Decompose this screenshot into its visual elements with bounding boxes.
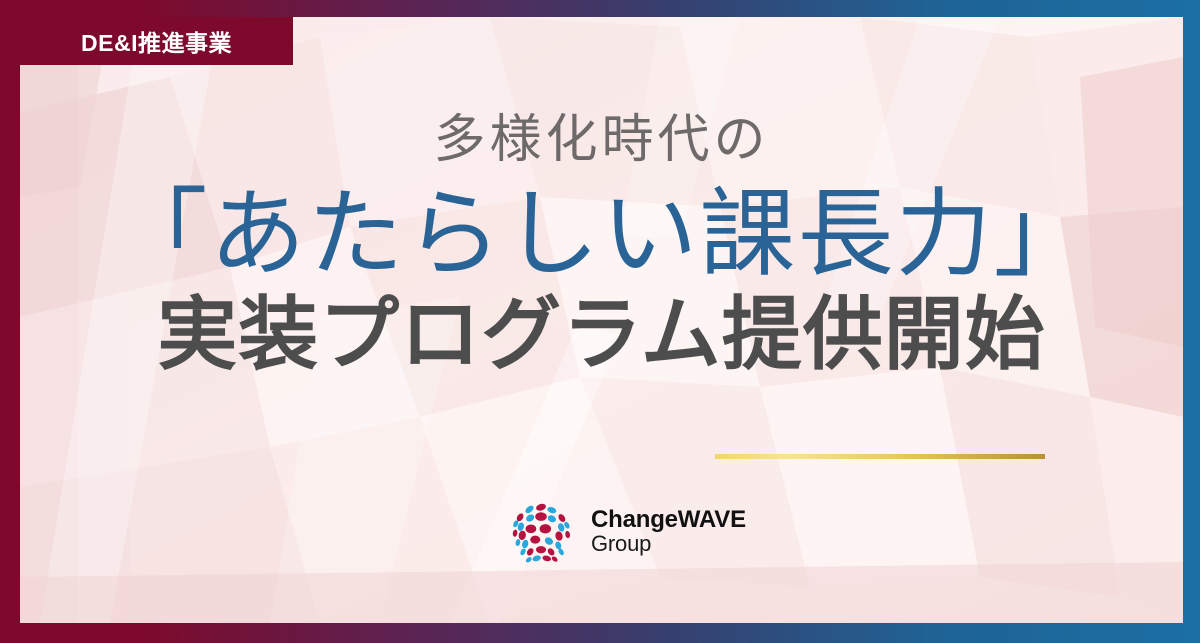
frame-right-border (1183, 0, 1200, 643)
headline-eyebrow: 多様化時代の (433, 115, 769, 167)
banner-canvas: DE&I推進事業 多様化時代の 「あたらしい課長力」 実装プログラム提供開始 (20, 17, 1183, 623)
headline-main: 「あたらしい課長力」 (112, 185, 1092, 285)
promotional-banner: DE&I推進事業 多様化時代の 「あたらしい課長力」 実装プログラム提供開始 (0, 0, 1200, 643)
category-badge-label: DE&I推進事業 (81, 24, 232, 58)
headline-sub: 実装プログラム提供開始 (157, 293, 1046, 377)
category-badge: DE&I推進事業 (20, 17, 293, 65)
frame-bottom-border (0, 623, 1200, 643)
frame-top-border (0, 0, 1200, 17)
headline-block: 多様化時代の 「あたらしい課長力」 実装プログラム提供開始 (20, 17, 1183, 623)
frame-left-border (0, 0, 20, 643)
